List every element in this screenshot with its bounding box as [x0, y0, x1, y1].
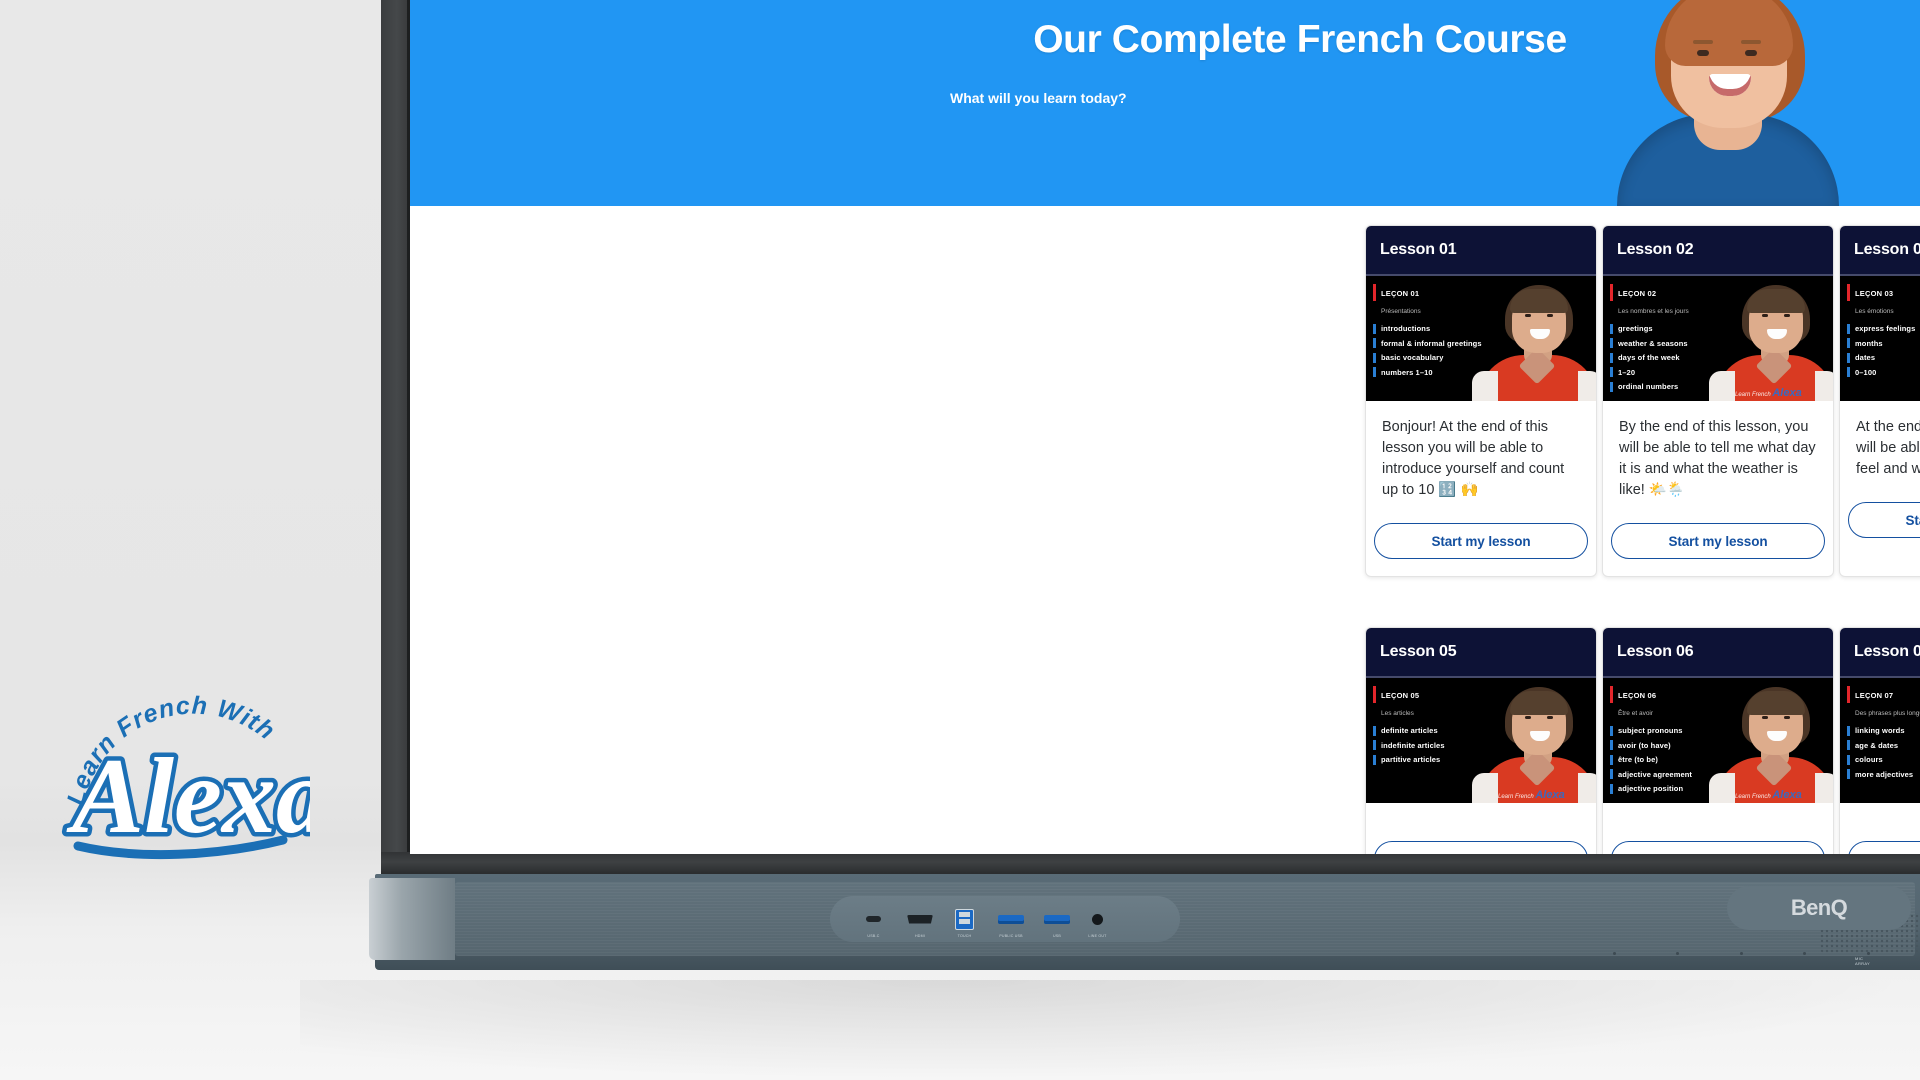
thumb-eye-right: [1547, 716, 1553, 719]
topic-row: 0–100: [1847, 367, 1920, 377]
line-out-label: LINE OUT: [1088, 934, 1106, 938]
blue-accent-bar: [1610, 784, 1613, 794]
thumb-eye-left: [1525, 716, 1531, 719]
blue-accent-bar: [1610, 338, 1613, 348]
red-accent-bar: [1847, 686, 1850, 703]
start-my-lesson-button[interactable]: Start my lesson: [1611, 841, 1825, 854]
thumb-sleeve-right: [1815, 371, 1833, 401]
topic-row: more adjectives: [1847, 769, 1920, 779]
topic-row: age & dates: [1847, 740, 1920, 750]
lesson-card-07[interactable]: Lesson 07 Learn French Al: [1839, 627, 1920, 854]
topic-label: colours: [1855, 755, 1883, 764]
lesson-thumbnail[interactable]: Learn French Alexa LEÇON 03 Les émotions…: [1840, 276, 1920, 401]
thumb-sleeve-right: [1578, 371, 1596, 401]
blue-accent-bar: [1373, 740, 1376, 750]
mic-array-label: MIC ARRAY: [1855, 956, 1870, 966]
blue-accent-bar: [1610, 740, 1613, 750]
thumbnail-lesson-title: LEÇON 05 Les articles: [1373, 686, 1503, 720]
topic-label: express feelings: [1855, 324, 1915, 333]
lecon-french-subtitle: Des phrases plus longues: [1855, 710, 1920, 717]
topic-row: avoir (to have): [1610, 740, 1740, 750]
thumbnail-topic-list: LEÇON 05 Les articles definite articles …: [1373, 686, 1503, 769]
usb-b-touch-port[interactable]: TOUCH: [955, 896, 974, 942]
thumb-eye-right: [1784, 716, 1790, 719]
lesson-description: Bonjour! At the end of this lesson you w…: [1382, 417, 1580, 501]
topic-label: 0–100: [1855, 368, 1876, 377]
topic-row: indefinite articles: [1373, 740, 1503, 750]
topic-label: linking words: [1855, 726, 1905, 735]
topic-row: days of the week: [1610, 353, 1740, 363]
lesson-thumbnail[interactable]: Learn French Alexa LEÇON 05 Les articles…: [1366, 678, 1596, 803]
presenter-eye-left: [1697, 50, 1709, 56]
blue-accent-bar: [1610, 755, 1613, 765]
blue-accent-bar: [1373, 755, 1376, 765]
lecon-label: LEÇON 01: [1381, 289, 1419, 298]
blue-accent-bar: [1847, 726, 1850, 736]
hdmi-icon: [907, 915, 933, 924]
presenter-eyebrow-left: [1693, 40, 1713, 44]
blue-accent-bar: [1373, 726, 1376, 736]
thumbnail-topic-list: LEÇON 06 Être et avoir subject pronouns …: [1610, 686, 1740, 798]
usb-a-icon: [1044, 915, 1070, 924]
display-chassis-bar: USB-C HDMI TOUCH PUBLIC USB USB LINE OUT: [375, 874, 1920, 970]
lesson-thumbnail[interactable]: Learn French Alexa LEÇON 07 Des phrases …: [1840, 678, 1920, 803]
topic-row: formal & informal greetings: [1373, 338, 1503, 348]
topic-row: express feelings: [1847, 324, 1920, 334]
thumb-eye-left: [1762, 716, 1768, 719]
blue-accent-bar: [1847, 769, 1850, 779]
usb-c-port-label: USB-C: [867, 934, 879, 938]
lesson-card-06[interactable]: Lesson 06 Learn French Al: [1602, 627, 1834, 854]
benq-brand-plate: BenQ: [1727, 886, 1911, 930]
topic-label: definite articles: [1381, 726, 1438, 735]
thumb-watermark: Learn French Alexa: [1498, 789, 1565, 801]
thumbnail-topic-list: LEÇON 02 Les nombres et les jours greeti…: [1610, 284, 1740, 396]
blue-accent-bar: [1847, 338, 1850, 348]
start-my-lesson-button[interactable]: Start my lesson: [1848, 841, 1920, 854]
usb-a-icon: [998, 915, 1024, 924]
lecon-label: LEÇON 06: [1618, 691, 1656, 700]
topic-row: ordinal numbers: [1610, 382, 1740, 392]
topic-row: dates: [1847, 353, 1920, 363]
thumb-sleeve-left: [1472, 773, 1498, 803]
touch-port-label: TOUCH: [958, 934, 972, 938]
usb-a-port-2[interactable]: USB: [1044, 896, 1070, 942]
lesson-thumbnail[interactable]: Learn French Alexa LEÇON 06 Être et avoi…: [1603, 678, 1833, 803]
presenter-eye-right: [1745, 50, 1757, 56]
blue-accent-bar: [1847, 740, 1850, 750]
topic-row: colours: [1847, 755, 1920, 765]
page-title: Our Complete French Course: [950, 18, 1650, 62]
audio-jack[interactable]: LINE OUT: [1092, 896, 1103, 942]
topic-row: partitive articles: [1373, 755, 1503, 765]
thumb-eye-right: [1547, 314, 1553, 317]
topic-row: être (to be): [1610, 755, 1740, 765]
lesson-card-header: Lesson 05: [1366, 628, 1596, 678]
public-usb-label: PUBLIC USB: [999, 934, 1022, 938]
topic-label: être (to be): [1618, 755, 1658, 764]
topic-label: age & dates: [1855, 741, 1898, 750]
usb-port-label: USB: [1053, 934, 1061, 938]
learn-french-with-alexa-logo: Learn French With Alexa Alexa: [60, 690, 310, 880]
lesson-card-header: Lesson 02: [1603, 226, 1833, 276]
thumb-eye-left: [1762, 314, 1768, 317]
start-my-lesson-button[interactable]: Start my lesson: [1848, 502, 1920, 538]
lecon-french-subtitle: Les émotions: [1855, 308, 1894, 315]
logo-artwork: Learn French With Alexa Alexa: [60, 690, 310, 880]
lesson-description: At the end of this lesson you will be ab…: [1856, 417, 1920, 480]
page-hero-banner: Our Complete French Course What will you…: [410, 0, 1920, 206]
topic-row: linking words: [1847, 726, 1920, 736]
thumbnail-topic-list: LEÇON 03 Les émotions express feelings m…: [1847, 284, 1920, 382]
topic-label: months: [1855, 339, 1883, 348]
thumbnail-lesson-title: LEÇON 01 Présentations: [1373, 284, 1503, 318]
lesson-card-grid: Lesson 01: [410, 206, 1920, 854]
headphone-jack-icon: [1092, 914, 1103, 925]
topic-row: definite articles: [1373, 726, 1503, 736]
blue-accent-bar: [1847, 324, 1850, 334]
benq-wordmark: BenQ: [1791, 895, 1847, 921]
thumbnail-topic-list: LEÇON 01 Présentations introductions for…: [1373, 284, 1503, 382]
blue-accent-bar: [1610, 353, 1613, 363]
presenter-hair-front: [1665, 0, 1793, 66]
red-accent-bar: [1373, 284, 1376, 301]
topic-label: avoir (to have): [1618, 741, 1671, 750]
blue-accent-bar: [1847, 367, 1850, 377]
topic-row: weather & seasons: [1610, 338, 1740, 348]
thumb-watermark: Learn French Alexa: [1735, 387, 1802, 399]
topic-row: introductions: [1373, 324, 1503, 334]
blue-accent-bar: [1847, 353, 1850, 363]
blue-accent-bar: [1610, 382, 1613, 392]
hdmi-port[interactable]: HDMI: [907, 896, 933, 942]
lecon-french-subtitle: Les nombres et les jours: [1618, 308, 1689, 315]
thumb-hair-front: [1510, 289, 1568, 313]
lesson-thumbnail[interactable]: LEÇON 01 Présentations introductions for…: [1366, 276, 1596, 401]
lecon-label: LEÇON 07: [1855, 691, 1893, 700]
topic-label: subject pronouns: [1618, 726, 1683, 735]
thumb-eye-right: [1784, 314, 1790, 317]
red-accent-bar: [1373, 686, 1376, 703]
hdmi-port-label: HDMI: [915, 934, 925, 938]
thumb-hair-front: [1510, 691, 1568, 715]
topic-label: adjective agreement: [1618, 770, 1692, 779]
blue-accent-bar: [1610, 367, 1613, 377]
thumb-sleeve-right: [1578, 773, 1596, 803]
topic-label: adjective position: [1618, 784, 1683, 793]
topic-label: indefinite articles: [1381, 741, 1445, 750]
start-my-lesson-button[interactable]: Start my lesson: [1374, 523, 1588, 559]
topic-label: weather & seasons: [1618, 339, 1688, 348]
lesson-card-header: Lesson 07: [1840, 628, 1920, 678]
thumbnail-lesson-title: LEÇON 07 Des phrases plus longues: [1847, 686, 1920, 720]
usb-c-port[interactable]: USB-C: [866, 896, 881, 942]
topic-row: subject pronouns: [1610, 726, 1740, 736]
thumb-eye-left: [1525, 314, 1531, 317]
topic-label: 1–20: [1618, 368, 1635, 377]
lesson-card-header: Lesson 03: [1840, 226, 1920, 276]
lesson-thumbnail[interactable]: Learn French Alexa LEÇON 02 Les nombres …: [1603, 276, 1833, 401]
red-accent-bar: [1610, 686, 1613, 703]
lecon-french-subtitle: Les articles: [1381, 710, 1414, 717]
topic-row: basic vocabulary: [1373, 353, 1503, 363]
red-accent-bar: [1610, 284, 1613, 301]
topic-label: days of the week: [1618, 353, 1680, 362]
blue-accent-bar: [1373, 353, 1376, 363]
chassis-textured-face: [455, 882, 1915, 956]
lecon-label: LEÇON 02: [1618, 289, 1656, 298]
topic-row: adjective agreement: [1610, 769, 1740, 779]
chassis-left-end-cap: [369, 878, 455, 960]
blue-accent-bar: [1373, 338, 1376, 348]
topic-label: formal & informal greetings: [1381, 339, 1482, 348]
blue-accent-bar: [1610, 726, 1613, 736]
blue-accent-bar: [1610, 769, 1613, 779]
thumb-watermark: Learn French Alexa: [1735, 789, 1802, 801]
topic-label: introductions: [1381, 324, 1430, 333]
usb-a-port-1[interactable]: PUBLIC USB: [998, 896, 1024, 942]
usb-c-icon: [866, 916, 881, 922]
thumb-hair-front: [1747, 289, 1805, 313]
blue-accent-bar: [1373, 324, 1376, 334]
lesson-card-01[interactable]: Lesson 01: [1365, 225, 1597, 577]
thumbnail-lesson-title: LEÇON 02 Les nombres et les jours: [1610, 284, 1740, 318]
topic-label: greetings: [1618, 324, 1653, 333]
topic-row: months: [1847, 338, 1920, 348]
lecon-label: LEÇON 05: [1381, 691, 1419, 700]
thumbnail-topic-list: LEÇON 07 Des phrases plus longues linkin…: [1847, 686, 1920, 784]
topic-label: numbers 1–10: [1381, 368, 1433, 377]
bezel-bottom-edge: [381, 852, 1920, 874]
lesson-card-03[interactable]: Lesson 03 Learn French Al: [1839, 225, 1920, 577]
presenter-eyebrow-right: [1741, 40, 1761, 44]
page-subtitle: What will you learn today?: [950, 90, 1650, 106]
lecon-french-subtitle: Être et avoir: [1618, 710, 1653, 717]
topic-label: partitive articles: [1381, 755, 1440, 764]
start-my-lesson-button[interactable]: Start my lesson: [1611, 523, 1825, 559]
thumb-hair-front: [1747, 691, 1805, 715]
topic-row: numbers 1–10: [1373, 367, 1503, 377]
blue-accent-bar: [1847, 755, 1850, 765]
topic-row: adjective position: [1610, 784, 1740, 794]
topic-row: greetings: [1610, 324, 1740, 334]
blue-accent-bar: [1373, 367, 1376, 377]
thumbnail-lesson-title: LEÇON 06 Être et avoir: [1610, 686, 1740, 720]
topic-label: ordinal numbers: [1618, 382, 1678, 391]
io-port-panel: USB-C HDMI TOUCH PUBLIC USB USB LINE OUT: [830, 896, 1180, 942]
display-floor-shadow: [300, 980, 1920, 1080]
topic-label: more adjectives: [1855, 770, 1913, 779]
usb-b-icon: [955, 909, 974, 930]
lesson-card-header: Lesson 01: [1366, 226, 1596, 276]
thumb-sleeve-right: [1815, 773, 1833, 803]
topic-row: 1–20: [1610, 367, 1740, 377]
lesson-card-05[interactable]: Lesson 05 Learn French Al: [1365, 627, 1597, 854]
lecon-label: LEÇON 03: [1855, 289, 1893, 298]
topic-label: basic vocabulary: [1381, 353, 1443, 362]
hero-presenter-photo: [1593, 0, 1863, 206]
start-my-lesson-button[interactable]: Start my lesson: [1374, 841, 1588, 854]
display-screen: Our Complete French Course What will you…: [410, 0, 1920, 854]
lesson-card-02[interactable]: Lesson 02 Learn French Al: [1602, 225, 1834, 577]
red-accent-bar: [1847, 284, 1850, 301]
lecon-french-subtitle: Présentations: [1381, 308, 1421, 315]
blue-accent-bar: [1610, 324, 1613, 334]
lesson-description: By the end of this lesson, you will be a…: [1619, 417, 1817, 501]
topic-label: dates: [1855, 353, 1875, 362]
thumbnail-lesson-title: LEÇON 03 Les émotions: [1847, 284, 1920, 318]
benq-interactive-display: Our Complete French Course What will you…: [381, 0, 1920, 990]
lesson-card-header: Lesson 06: [1603, 628, 1833, 678]
chassis-screw-dots: [1613, 952, 1920, 955]
